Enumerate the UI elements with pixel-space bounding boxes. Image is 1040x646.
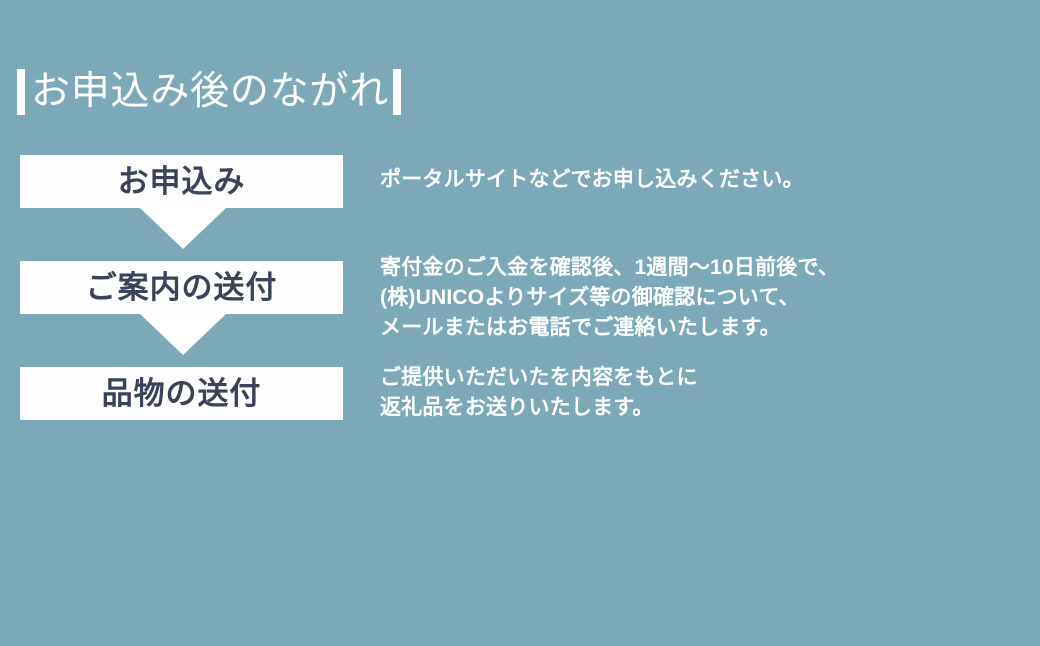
step-label-1: お申込み [118, 165, 246, 199]
page-title-text: お申込み後のながれ [31, 69, 389, 115]
step-description-3: ご提供いただいたを内容をもとに 返礼品をお送りいたします。 [380, 363, 698, 423]
page-title: お申込み後のながれ [17, 64, 401, 120]
flow-step-2: ご案内の送付 寄付金のご入金を確認後、1週間〜10日前後で、 (株)UNICOよ… [0, 261, 1040, 314]
step-label-2: ご案内の送付 [86, 271, 278, 305]
step-box-1: お申込み [20, 155, 343, 208]
arrow-wrap-2 [0, 314, 1040, 367]
flow-steps: お申込み ポータルサイトなどでお申し込みください。 ご案内の送付 寄付金のご入金… [0, 155, 1040, 420]
step-description-3-line-2: 返礼品をお送りいたします。 [380, 393, 698, 423]
step-box-3: 品物の送付 [20, 367, 343, 420]
step-description-3-line-1: ご提供いただいたを内容をもとに [380, 363, 698, 393]
arrow-down-icon-1 [140, 208, 226, 249]
flow-step-3: 品物の送付 ご提供いただいたを内容をもとに 返礼品をお送りいたします。 [0, 367, 1040, 420]
step-box-2: ご案内の送付 [20, 261, 343, 314]
step-description-1: ポータルサイトなどでお申し込みください。 [380, 165, 804, 195]
flow-step-1: お申込み ポータルサイトなどでお申し込みください。 [0, 155, 1040, 208]
step-label-3: 品物の送付 [102, 377, 262, 411]
title-bar-right-icon [393, 69, 401, 115]
arrow-down-icon-2 [140, 314, 226, 355]
step-description-2-line-2: (株)UNICOよりサイズ等の御確認について、 [380, 283, 839, 313]
flow-poster: お申込み後のながれ お申込み ポータルサイトなどでお申し込みください。 ご案内の… [0, 0, 1040, 646]
step-description-2-line-1: 寄付金のご入金を確認後、1週間〜10日前後で、 [380, 253, 839, 283]
title-bar-left-icon [17, 69, 25, 115]
step-description-1-line-1: ポータルサイトなどでお申し込みください。 [380, 165, 804, 195]
